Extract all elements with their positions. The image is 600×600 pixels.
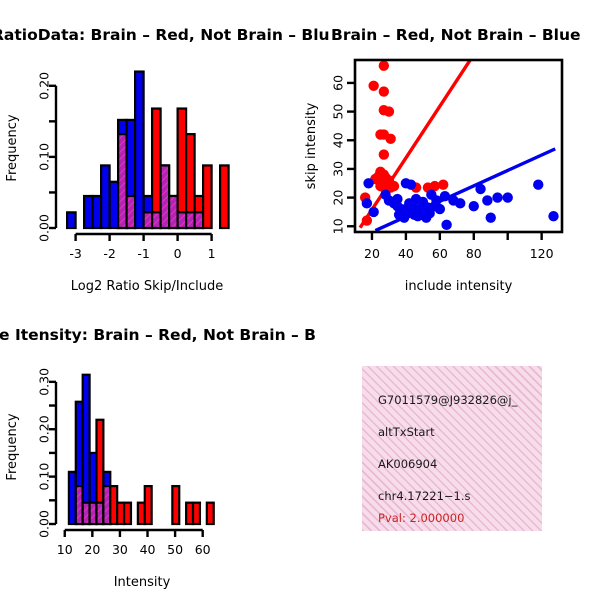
- svg-text:30: 30: [112, 542, 128, 557]
- scatter-plot: 10203040506020406080120include intensity…: [300, 10, 600, 310]
- scatter-point: [469, 201, 479, 211]
- ratio-histogram-panel: RatioData: Brain – Red, Not Brain – Blu …: [0, 0, 300, 310]
- scatter-point: [533, 180, 543, 190]
- histogram-bar: [178, 109, 187, 228]
- histogram-bar: [110, 182, 119, 228]
- svg-text:40: 40: [331, 132, 346, 148]
- svg-text:20: 20: [84, 542, 100, 557]
- scatter-point: [384, 106, 394, 116]
- histogram-bar-overlap: [186, 212, 195, 228]
- svg-text:Frequency: Frequency: [5, 114, 20, 181]
- svg-text:80: 80: [466, 246, 482, 261]
- scatter-point: [379, 149, 389, 159]
- svg-text:Frequency: Frequency: [5, 413, 20, 480]
- scatter-point: [368, 207, 378, 217]
- svg-text:30: 30: [331, 161, 346, 177]
- scatter-point: [455, 198, 465, 208]
- histogram-bar: [101, 165, 110, 228]
- svg-text:20: 20: [331, 190, 346, 206]
- histogram-bar: [207, 503, 214, 524]
- scatter-point: [438, 180, 448, 190]
- svg-text:1: 1: [208, 246, 216, 261]
- svg-text:0.20: 0.20: [37, 72, 52, 100]
- scatter-point: [475, 184, 485, 194]
- scatter-point: [411, 194, 421, 204]
- scatter-point: [392, 194, 402, 204]
- info-event-type: altTxStart: [378, 425, 435, 439]
- scatter-point: [362, 215, 372, 225]
- svg-text:0: 0: [174, 246, 182, 261]
- scatter-point: [385, 134, 395, 144]
- svg-text:20: 20: [364, 246, 380, 261]
- scatter-point: [379, 86, 389, 96]
- scatter-point: [406, 180, 416, 190]
- histogram-bar-overlap: [195, 212, 204, 228]
- svg-text:Log2 Ratio Skip/Include: Log2 Ratio Skip/Include: [71, 279, 223, 294]
- histogram-bar: [135, 72, 144, 228]
- svg-text:10: 10: [57, 542, 73, 557]
- info-panel: G7011579@J932826@j_ altTxStart AK006904 …: [300, 300, 600, 600]
- histogram-bar: [84, 196, 93, 228]
- svg-text:0.30: 0.30: [37, 368, 52, 396]
- scatter-point: [482, 195, 492, 205]
- scatter-point: [424, 208, 434, 218]
- svg-text:60: 60: [195, 542, 211, 557]
- info-accession: AK006904: [378, 457, 437, 471]
- scatter-point: [368, 81, 378, 91]
- svg-text:Intensity: Intensity: [114, 575, 171, 590]
- info-box: [362, 366, 542, 531]
- info-locus: chr4.17221−1.s: [378, 489, 471, 503]
- scatter-point: [431, 195, 441, 205]
- info-id: G7011579@J932826@j_: [378, 393, 517, 407]
- histogram-bar-overlap: [161, 165, 170, 228]
- svg-text:120: 120: [530, 246, 554, 261]
- histogram-bar-overlap: [127, 196, 136, 228]
- svg-text:0.10: 0.10: [37, 463, 52, 491]
- svg-text:-3: -3: [69, 246, 81, 261]
- svg-text:60: 60: [331, 75, 346, 91]
- svg-text:60: 60: [432, 246, 448, 261]
- scatter-point: [379, 61, 389, 71]
- scatter-point: [503, 192, 513, 202]
- scatter-panel: Brain – Red, Not Brain – Blue 1020304050…: [300, 0, 600, 310]
- svg-text:-1: -1: [137, 246, 149, 261]
- histogram-bar-overlap: [144, 212, 153, 228]
- svg-text:0.00: 0.00: [37, 214, 52, 242]
- ratio-histogram-plot: 0.000.100.20-3-2-101Log2 Ratio Skip/Incl…: [0, 10, 300, 310]
- histogram-bar-overlap: [118, 134, 127, 228]
- histogram-bar: [124, 503, 131, 524]
- histogram-bar: [145, 486, 152, 524]
- histogram-bar: [193, 503, 200, 524]
- histogram-bar-overlap: [152, 212, 161, 228]
- scatter-point: [441, 220, 451, 230]
- intensity-histogram-plot: 0.000.100.200.30102030405060IntensityFre…: [0, 312, 300, 584]
- svg-text:include intensity: include intensity: [405, 279, 513, 294]
- histogram-bar-overlap: [178, 212, 187, 228]
- scatter-point: [548, 211, 558, 221]
- info-pval: Pval: 2.000000: [378, 511, 464, 525]
- svg-text:0.10: 0.10: [37, 143, 52, 171]
- svg-text:40: 40: [398, 246, 414, 261]
- intensity-histogram-panel: ne Itensity: Brain – Red, Not Brain – B …: [0, 300, 300, 600]
- scatter-point: [362, 198, 372, 208]
- histogram-bar: [220, 165, 229, 228]
- svg-text:0.00: 0.00: [37, 510, 52, 538]
- svg-text:40: 40: [140, 542, 156, 557]
- scatter-point: [363, 178, 373, 188]
- scatter-point: [492, 192, 502, 202]
- histogram-bar: [172, 486, 179, 524]
- histogram-bar: [67, 212, 76, 228]
- svg-text:-2: -2: [103, 246, 115, 261]
- scatter-point: [399, 212, 409, 222]
- scatter-point: [486, 212, 496, 222]
- svg-text:0.20: 0.20: [37, 415, 52, 443]
- histogram-bar: [152, 109, 161, 228]
- svg-text:50: 50: [331, 104, 346, 120]
- svg-text:skip intensity: skip intensity: [304, 102, 319, 189]
- svg-text:50: 50: [167, 542, 183, 557]
- svg-text:10: 10: [331, 218, 346, 234]
- histogram-bar: [93, 196, 102, 228]
- histogram-bar: [203, 165, 212, 228]
- histogram-bar-overlap: [169, 196, 178, 228]
